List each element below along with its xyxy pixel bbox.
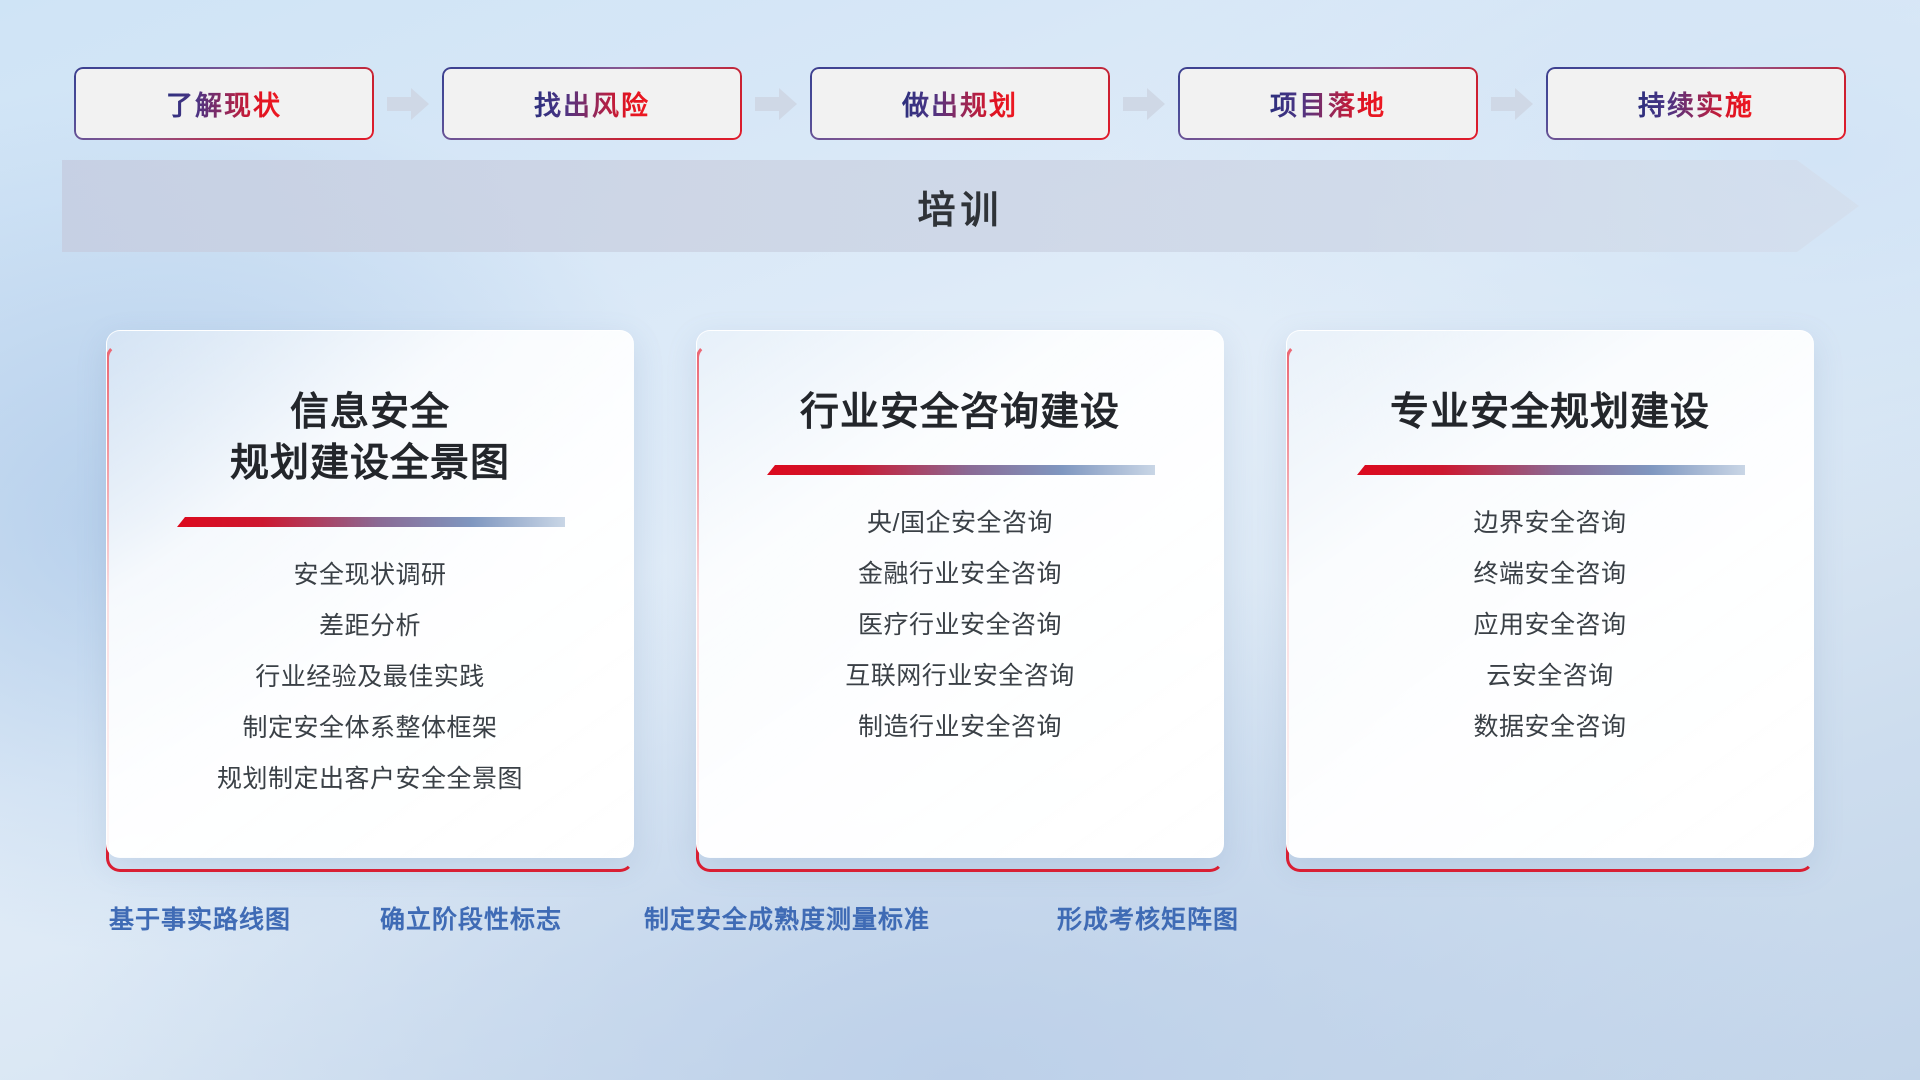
list-item: 云安全咨询 <box>1486 655 1614 698</box>
slide-canvas: 了解现状 找出风险 做出规划 项目落地 <box>0 0 1920 1080</box>
list-item: 安全现状调研 <box>293 554 446 597</box>
flow-step-1-label: 了解现状 <box>166 84 282 123</box>
right-arrow-icon <box>387 87 429 121</box>
list-item: 规划制定出客户安全全景图 <box>217 758 523 801</box>
flow-step-4[interactable]: 项目落地 <box>1178 67 1478 140</box>
flow-step-5[interactable]: 持续实施 <box>1546 67 1846 140</box>
footer-label-2: 确立阶段性标志 <box>380 900 562 936</box>
list-item: 医疗行业安全咨询 <box>858 604 1062 647</box>
card-1[interactable]: 信息安全 规划建设全景图 <box>106 330 634 858</box>
flow-arrow-4 <box>1478 67 1546 140</box>
right-arrow-icon <box>755 87 797 121</box>
card-2-divider <box>765 464 1155 476</box>
card-1-divider <box>175 516 565 528</box>
card-3-divider <box>1355 464 1745 476</box>
flow-step-3[interactable]: 做出规划 <box>810 67 1110 140</box>
footer-label-3: 制定安全成熟度测量标准 <box>644 900 930 936</box>
list-item: 互联网行业安全咨询 <box>845 655 1075 698</box>
process-flow-row: 了解现状 找出风险 做出规划 项目落地 <box>0 67 1920 140</box>
card-wrap-3: 专业安全规划建设 <box>1286 330 1814 858</box>
cards-row: 信息安全 规划建设全景图 <box>0 330 1920 870</box>
card-1-title: 信息安全 规划建设全景图 <box>206 387 534 490</box>
gradient-rule-icon <box>765 464 1155 476</box>
flow-step-5-label: 持续实施 <box>1638 84 1754 123</box>
list-item: 金融行业安全咨询 <box>858 553 1062 596</box>
flow-arrow-3 <box>1110 67 1178 140</box>
card-3-list: 边界安全咨询 终端安全咨询 应用安全咨询 云安全咨询 数据安全咨询 <box>1287 502 1813 749</box>
list-item: 制造行业安全咨询 <box>858 706 1062 749</box>
list-item: 边界安全咨询 <box>1473 502 1626 545</box>
card-2[interactable]: 行业安全咨询建设 <box>696 330 1224 858</box>
list-item: 央/国企安全咨询 <box>867 502 1053 545</box>
flow-step-2[interactable]: 找出风险 <box>442 67 742 140</box>
card-3[interactable]: 专业安全规划建设 <box>1286 330 1814 858</box>
card-2-title-line1: 行业安全咨询建设 <box>800 387 1120 438</box>
card-3-title-line1: 专业安全规划建设 <box>1390 387 1710 438</box>
gradient-rule-icon <box>1355 464 1745 476</box>
list-item: 终端安全咨询 <box>1473 553 1626 596</box>
training-banner-label: 培训 <box>62 160 1859 252</box>
flow-step-2-label: 找出风险 <box>534 84 650 123</box>
right-arrow-icon <box>1491 87 1533 121</box>
card-1-list: 安全现状调研 差距分析 行业经验及最佳实践 制定安全体系整体框架 规划制定出客户… <box>107 554 633 801</box>
flow-step-3-label: 做出规划 <box>902 84 1018 123</box>
gradient-rule-icon <box>175 516 565 528</box>
training-banner: 培训 <box>62 160 1859 252</box>
flow-step-1[interactable]: 了解现状 <box>74 67 374 140</box>
footer-labels-row: 基于事实路线图 确立阶段性标志 制定安全成熟度测量标准 形成考核矩阵图 <box>0 900 1920 954</box>
card-2-title: 行业安全咨询建设 <box>776 387 1144 438</box>
flow-arrow-1 <box>374 67 442 140</box>
list-item: 数据安全咨询 <box>1473 706 1626 749</box>
footer-label-1: 基于事实路线图 <box>109 900 291 936</box>
card-1-title-line2: 规划建设全景图 <box>230 438 510 489</box>
flow-step-4-label: 项目落地 <box>1270 84 1386 123</box>
card-wrap-2: 行业安全咨询建设 <box>696 330 1224 858</box>
flow-arrow-2 <box>742 67 810 140</box>
list-item: 行业经验及最佳实践 <box>255 656 485 699</box>
card-2-list: 央/国企安全咨询 金融行业安全咨询 医疗行业安全咨询 互联网行业安全咨询 制造行… <box>697 502 1223 749</box>
card-wrap-1: 信息安全 规划建设全景图 <box>106 330 634 858</box>
card-1-title-line1: 信息安全 <box>230 387 510 438</box>
list-item: 应用安全咨询 <box>1473 604 1626 647</box>
list-item: 差距分析 <box>319 605 421 648</box>
right-arrow-icon <box>1123 87 1165 121</box>
footer-label-4: 形成考核矩阵图 <box>1057 900 1239 936</box>
list-item: 制定安全体系整体框架 <box>242 707 497 750</box>
card-3-title: 专业安全规划建设 <box>1366 387 1734 438</box>
